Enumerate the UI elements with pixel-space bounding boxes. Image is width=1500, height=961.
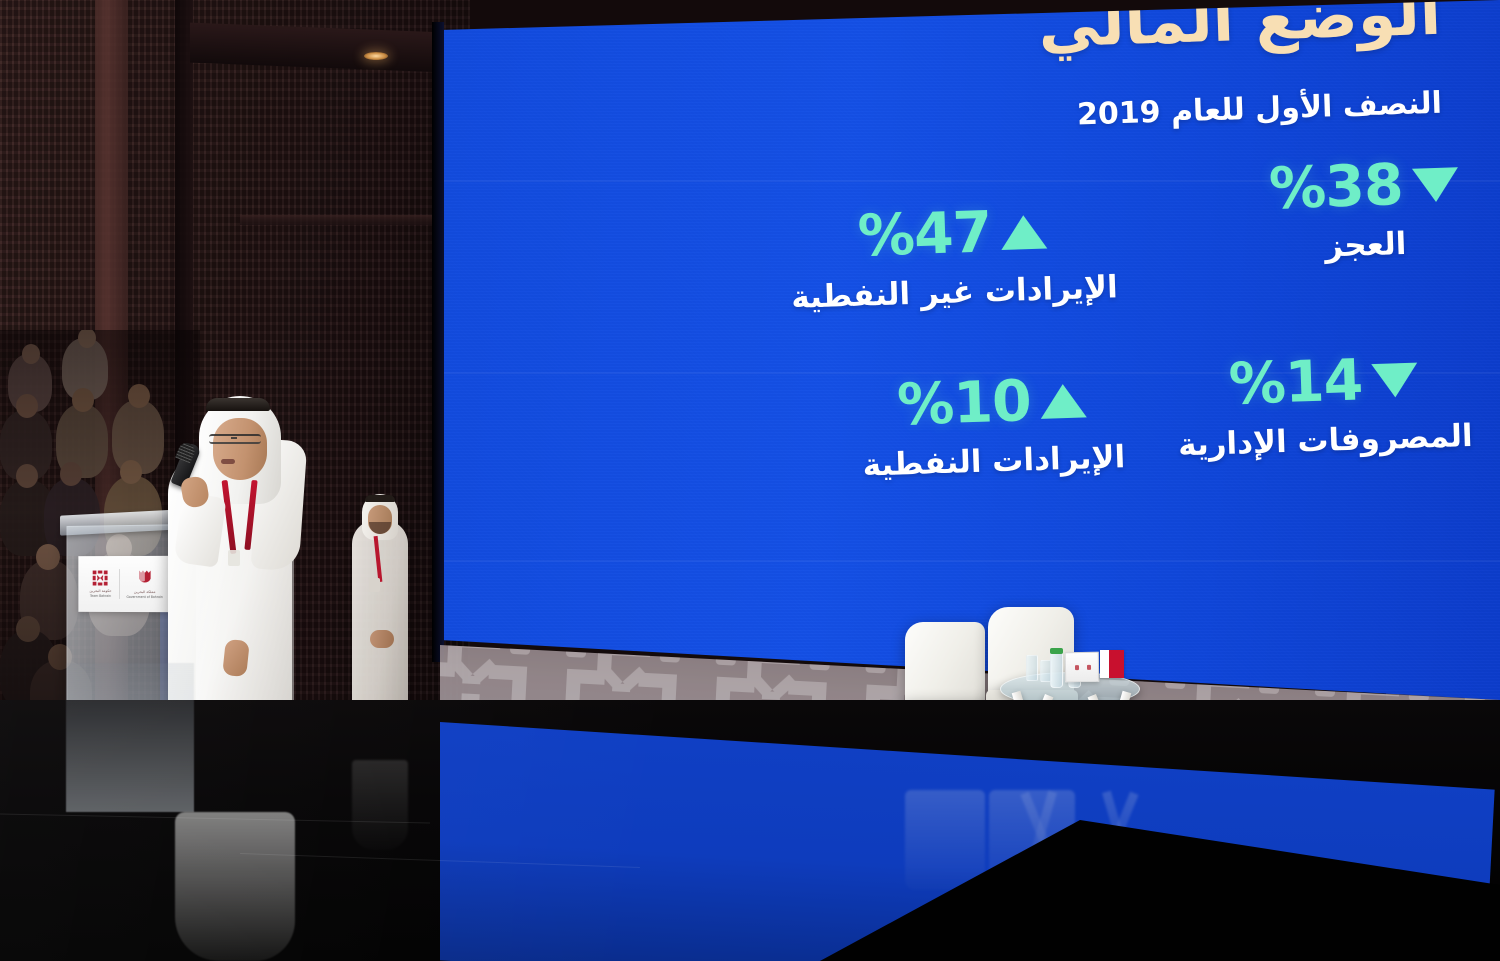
name-card bbox=[1065, 652, 1100, 683]
floor-sheen bbox=[0, 700, 1500, 961]
eyeglasses-icon bbox=[209, 434, 261, 444]
water-bottle bbox=[1050, 652, 1063, 688]
stat-value-0: %38 bbox=[1268, 157, 1403, 218]
usher-agal-cord bbox=[365, 495, 395, 502]
podium-logo-sign: حكومة البحرين Team Bahrain مملكة البحرين… bbox=[78, 556, 174, 612]
arrow-up-icon bbox=[1040, 383, 1087, 418]
slide-subtitle: النصف الأول للعام 2019 bbox=[1077, 86, 1443, 133]
stat-block-admin-expenses: %14 المصروفات الإدارية bbox=[1175, 349, 1473, 463]
logo-divider bbox=[119, 569, 120, 599]
stat-value-1: %47 bbox=[857, 204, 992, 265]
arrow-up-icon bbox=[1001, 214, 1048, 249]
podium-logo-right-label-ar: مملكة البحرين bbox=[134, 590, 156, 594]
bahrain-flag-icon bbox=[1100, 650, 1124, 678]
stat-label-2: المصروفات الإدارية bbox=[1178, 418, 1474, 463]
slide-title: الوضع المالي bbox=[1037, 0, 1442, 58]
stat-label-3: الإيرادات النفطية bbox=[862, 439, 1126, 483]
conference-stage-scene: الوضع المالي النصف الأول للعام 2019 %38 … bbox=[0, 0, 1500, 961]
team-bahrain-emblem-icon bbox=[92, 569, 110, 587]
stat-block-deficit: %38 العجز bbox=[1268, 155, 1461, 266]
podium-logo-right-label-en: Government of Bahrain bbox=[127, 596, 163, 600]
stat-block-non-oil-revenue: %47 الإيرادات غير النفطية bbox=[788, 200, 1118, 315]
speaker-mouth bbox=[221, 459, 235, 464]
stat-label-1: الإيرادات غير النفطية bbox=[791, 269, 1119, 316]
bottle-cap bbox=[1050, 648, 1063, 654]
screen-left-bezel bbox=[432, 22, 444, 662]
speaker-agal-cord bbox=[206, 398, 270, 411]
water-glass bbox=[1026, 655, 1038, 681]
usher-badge bbox=[369, 578, 380, 592]
podium-logo-left-label-en: Team Bahrain bbox=[90, 595, 111, 599]
ceiling-light-icon bbox=[364, 52, 388, 60]
speaker-face bbox=[213, 418, 267, 480]
usher-robe bbox=[352, 520, 408, 715]
podium-logo-left: حكومة البحرين Team Bahrain bbox=[89, 569, 111, 598]
podium-logo-left-label-ar: حكومة البحرين bbox=[89, 589, 111, 593]
stat-value-3: %10 bbox=[896, 373, 1031, 434]
arrow-down-icon bbox=[1372, 362, 1419, 397]
usher-hands bbox=[370, 630, 394, 648]
speaker-badge bbox=[228, 550, 240, 566]
stat-label-0: العجز bbox=[1270, 224, 1461, 266]
bahrain-coat-of-arms-icon bbox=[134, 568, 156, 588]
stat-value-2: %14 bbox=[1228, 352, 1363, 413]
speaker-hand-lower bbox=[222, 639, 250, 677]
stat-block-oil-revenue: %10 الإيرادات النفطية bbox=[860, 370, 1126, 483]
slide-content: الوضع المالي النصف الأول للعام 2019 %38 … bbox=[440, 0, 1500, 700]
podium-logo-right: مملكة البحرين Government of Bahrain bbox=[127, 568, 163, 600]
arrow-down-icon bbox=[1412, 167, 1459, 202]
